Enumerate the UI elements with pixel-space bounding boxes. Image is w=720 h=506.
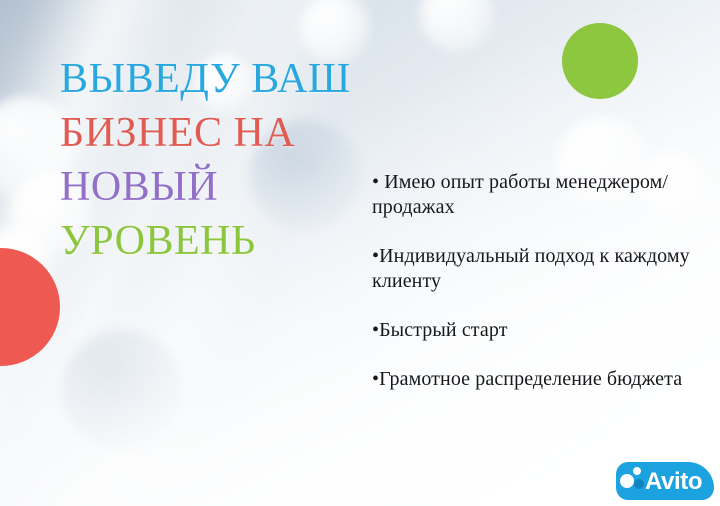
green-circle-decoration: [562, 23, 638, 99]
avito-wordmark: Avito: [645, 468, 702, 496]
headline-line-2: БИЗНЕС НА: [60, 106, 440, 160]
avito-watermark: Avito: [616, 462, 714, 500]
headline-line-1: ВЫВЕДУ ВАШ: [60, 52, 440, 106]
avito-dot-large-icon: [620, 474, 634, 488]
avito-dot-blue-icon: [634, 479, 644, 489]
avito-dot-small-icon: [633, 467, 641, 475]
poster-image: ВЫВЕДУ ВАШ БИЗНЕС НА НОВЫЙ УРОВЕНЬ • Име…: [0, 0, 720, 506]
list-item: •Индивидуальный подход к каждому клиенту: [372, 244, 702, 294]
list-item: • Имею опыт работы менеджером/продажах: [372, 170, 702, 220]
avito-logo-icon: [620, 467, 646, 493]
list-item: •Быстрый старт: [372, 318, 702, 343]
benefits-list: • Имею опыт работы менеджером/продажах •…: [372, 170, 702, 392]
list-item: •Грамотное распределение бюджета: [372, 367, 702, 392]
